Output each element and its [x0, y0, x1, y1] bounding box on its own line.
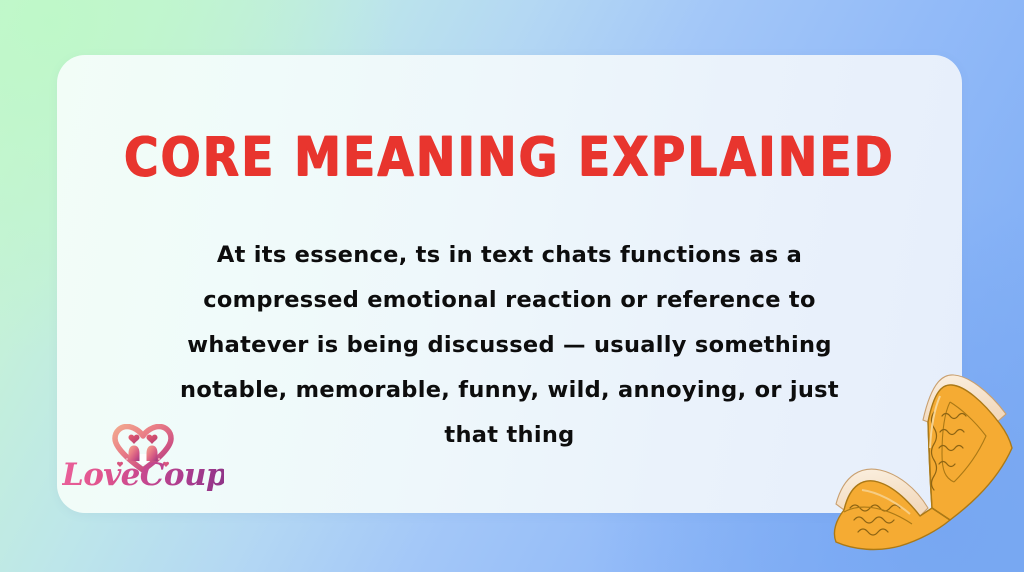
- body-line: that thing: [160, 413, 860, 458]
- body-line: whatever is being discussed — usually so…: [160, 323, 860, 368]
- body-line: compressed emotional reaction or referen…: [160, 278, 860, 323]
- body-paragraph: At its essence, ts in text chats functio…: [160, 233, 860, 458]
- body-line: At its essence, ts in text chats functio…: [160, 233, 860, 278]
- slide-canvas: CORE MEANING EXPLAINED At its essence, t…: [0, 0, 1024, 572]
- page-title: CORE MEANING EXPLAINED: [124, 126, 895, 190]
- card-content: CORE MEANING EXPLAINED At its essence, t…: [57, 55, 962, 513]
- body-line: notable, memorable, funny, wild, annoyin…: [160, 368, 860, 413]
- content-card: CORE MEANING EXPLAINED At its essence, t…: [57, 55, 962, 513]
